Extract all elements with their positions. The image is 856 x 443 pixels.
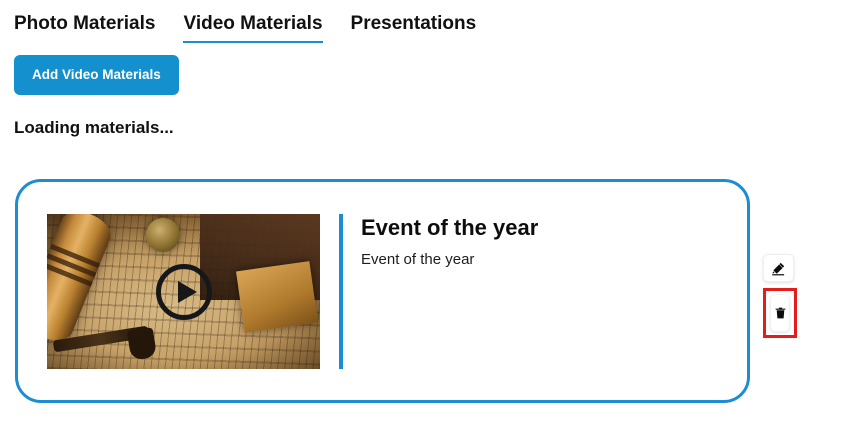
play-icon[interactable] bbox=[156, 264, 212, 320]
video-thumbnail[interactable] bbox=[47, 214, 320, 369]
delete-button-highlight bbox=[763, 288, 797, 338]
card-divider bbox=[339, 214, 343, 369]
tab-presentations[interactable]: Presentations bbox=[351, 12, 477, 43]
pencil-icon bbox=[771, 261, 786, 276]
card-actions bbox=[763, 254, 794, 282]
add-video-materials-button[interactable]: Add Video Materials bbox=[14, 55, 179, 95]
card-description: Event of the year bbox=[361, 250, 747, 270]
loading-status-text: Loading materials... bbox=[0, 95, 856, 138]
card-info: Event of the year Event of the year bbox=[361, 215, 747, 270]
tab-video-materials[interactable]: Video Materials bbox=[183, 12, 322, 43]
delete-button[interactable] bbox=[770, 294, 790, 332]
tab-photo-materials[interactable]: Photo Materials bbox=[14, 12, 155, 43]
compass-medallion-decoration bbox=[146, 218, 180, 252]
tabs-bar: Photo Materials Video Materials Presenta… bbox=[0, 0, 856, 34]
card-title: Event of the year bbox=[361, 215, 747, 241]
paper-tag-decoration bbox=[236, 261, 318, 333]
video-material-card: Event of the year Event of the year bbox=[15, 179, 750, 403]
trash-icon bbox=[774, 306, 787, 320]
key-bow-decoration bbox=[127, 327, 157, 361]
scroll-tube-decoration bbox=[47, 214, 116, 347]
toolbar: Add Video Materials bbox=[0, 34, 856, 95]
edit-button[interactable] bbox=[763, 254, 794, 282]
